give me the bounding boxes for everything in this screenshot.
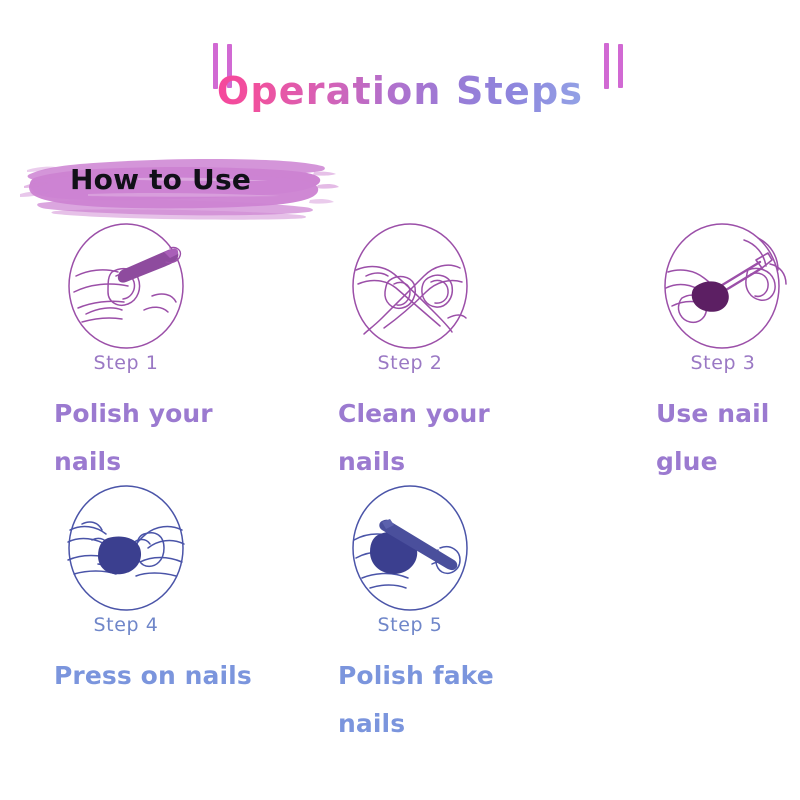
step-card-2[interactable]: Step 2 Clean your nails <box>322 222 582 486</box>
glue-blob-shape <box>692 281 729 311</box>
step-3-caption: Use nail glue <box>656 390 800 486</box>
step-card-5[interactable]: Step 5 Polish fake nails <box>322 484 582 748</box>
step-2-label: Step 2 <box>330 352 490 374</box>
step-2-caption: Clean your nails <box>338 390 538 486</box>
two-hands-clean-nails-icon <box>336 222 484 354</box>
nail-file-shape <box>118 249 179 283</box>
step-card-3[interactable]: Step 3 Use nail glue <box>640 222 800 486</box>
step-card-1[interactable]: Step 1 Polish your nails <box>38 222 298 486</box>
header-bar: Operation Steps <box>0 38 800 98</box>
decor-bar-icon <box>618 44 623 88</box>
steps-grid: Step 1 Polish your nails <box>0 222 800 746</box>
file-fake-nail-icon <box>336 484 484 616</box>
step-1-label: Step 1 <box>46 352 206 374</box>
hand-nail-file-icon <box>52 222 200 354</box>
nail-glue-brush-icon <box>652 222 800 354</box>
step-4-illustration <box>52 484 200 616</box>
page-title: Operation Steps <box>0 63 800 119</box>
how-to-use-banner: How to Use <box>18 148 340 226</box>
step-1-illustration <box>52 222 200 354</box>
steps-row-1: Step 1 Polish your nails <box>0 222 800 484</box>
step-4-label: Step 4 <box>46 614 206 636</box>
step-card-4[interactable]: Step 4 Press on nails <box>38 484 298 700</box>
step-4-caption: Press on nails <box>54 652 254 700</box>
step-1-caption: Polish your nails <box>54 390 254 486</box>
fake-nail-shape <box>98 536 141 574</box>
decor-bar-icon <box>604 43 609 89</box>
step-5-label: Step 5 <box>330 614 490 636</box>
step-3-illustration <box>652 222 800 354</box>
step-5-illustration <box>336 484 484 616</box>
step-5-caption: Polish fake nails <box>338 652 538 748</box>
step-3-label: Step 3 <box>648 352 798 374</box>
steps-row-2: Step 4 Press on nails <box>0 484 800 746</box>
title-decoration-right <box>604 43 623 89</box>
press-on-nail-icon <box>52 484 200 616</box>
step-2-illustration <box>336 222 484 354</box>
how-to-use-label: How to Use <box>70 163 251 196</box>
page-title-text: Operation Steps <box>217 69 583 113</box>
